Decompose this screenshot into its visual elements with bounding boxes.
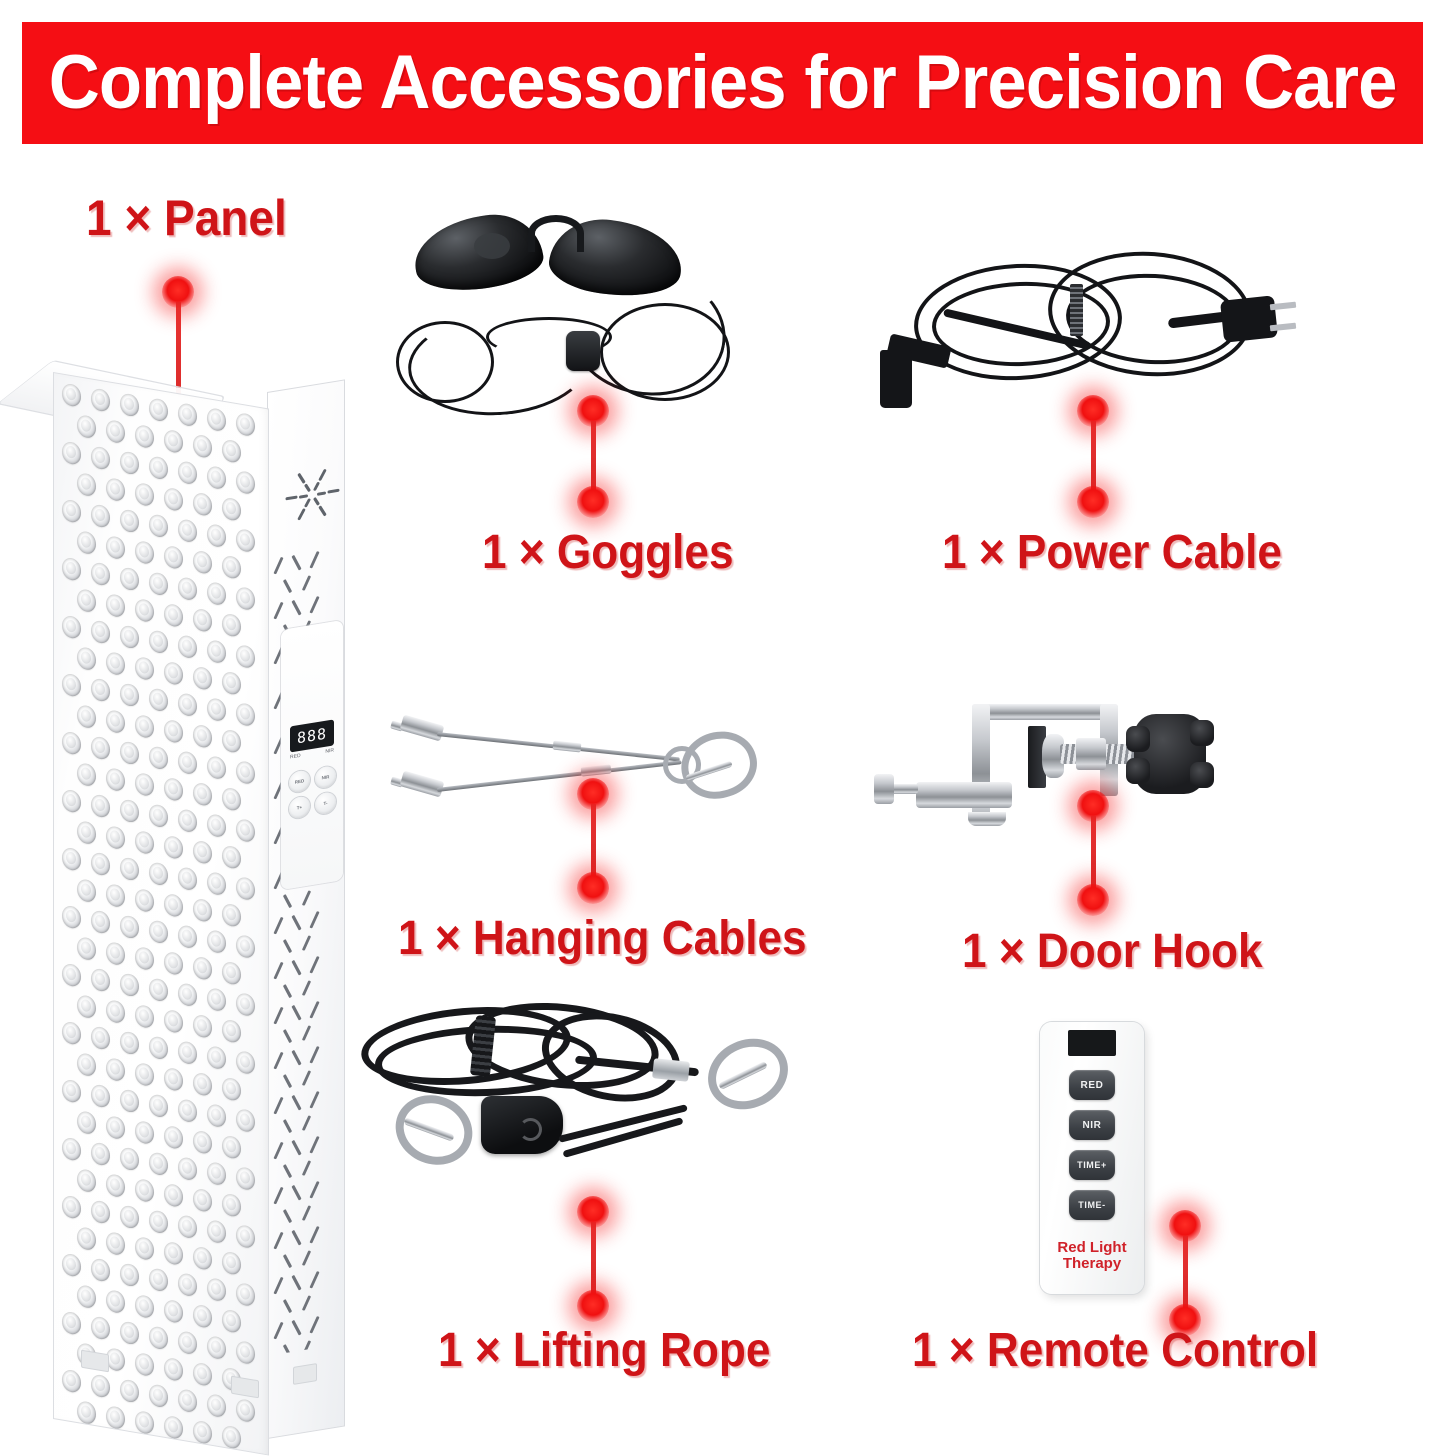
- led-diode: [106, 767, 125, 792]
- led-diode: [135, 1120, 154, 1145]
- led-diode: [149, 977, 168, 1002]
- led-diode: [164, 603, 183, 628]
- led-diode: [91, 1373, 110, 1398]
- fan-slot: [297, 472, 306, 483]
- item-label-door-hook: 1 × Door Hook: [962, 928, 1263, 976]
- item-label-panel: 1 × Panel: [86, 193, 287, 243]
- led-diode: [106, 709, 125, 734]
- led-diode: [236, 818, 255, 843]
- callout-marker-door-hook: [1063, 790, 1123, 920]
- led-diode: [91, 909, 110, 934]
- led-diode: [207, 871, 226, 896]
- led-diode: [77, 472, 96, 497]
- led-diode: [135, 540, 154, 565]
- led-diode: [236, 876, 255, 901]
- led-diode: [62, 1021, 81, 1046]
- led-diode: [62, 1079, 81, 1104]
- led-diode: [149, 1383, 168, 1408]
- remote-button-time-minus[interactable]: TIME-: [1069, 1190, 1115, 1220]
- led-diode: [135, 1062, 154, 1087]
- led-diode: [91, 1141, 110, 1166]
- led-diode: [149, 1035, 168, 1060]
- led-diode: [193, 782, 212, 807]
- led-diode: [91, 561, 110, 586]
- led-diode: [77, 414, 96, 439]
- nema-prong-top: [1270, 302, 1296, 311]
- remote-button-time-plus[interactable]: TIME+: [1069, 1150, 1115, 1180]
- fan-slot: [317, 491, 326, 495]
- led-diode: [149, 745, 168, 770]
- fan-slot: [327, 489, 339, 494]
- led-diode: [178, 1388, 197, 1413]
- led-diode: [207, 1393, 226, 1418]
- led-diode: [62, 383, 81, 408]
- led-diode: [193, 1420, 212, 1445]
- panel-foot-back: [293, 1363, 317, 1385]
- led-diode: [91, 1025, 110, 1050]
- panel-front-face: [53, 372, 269, 1456]
- led-diode: [207, 523, 226, 548]
- led-diode: [149, 571, 168, 596]
- led-diode: [149, 803, 168, 828]
- fan-slot: [318, 469, 327, 481]
- led-diode: [222, 1424, 241, 1449]
- led-diode: [62, 441, 81, 466]
- cable-tie: [1070, 284, 1083, 336]
- panel-button-nir[interactable]: NIR: [315, 765, 336, 789]
- led-diode: [77, 1110, 96, 1135]
- led-diode: [193, 724, 212, 749]
- led-diode: [164, 1125, 183, 1150]
- nema-plug-body: [1220, 295, 1278, 342]
- led-diode: [120, 624, 139, 649]
- led-diode: [222, 496, 241, 521]
- fan-grille-icon: [285, 456, 339, 535]
- fan-slot: [299, 494, 308, 498]
- led-diode: [207, 639, 226, 664]
- led-diode: [236, 1340, 255, 1365]
- led-diode: [178, 808, 197, 833]
- led-diode: [178, 924, 197, 949]
- led-diode: [222, 960, 241, 985]
- led-diode: [106, 1289, 125, 1314]
- led-diode: [106, 535, 125, 560]
- led-diode: [106, 825, 125, 850]
- remote-control-icon[interactable]: RED NIR TIME+ TIME- Red Light Therapy: [1040, 1022, 1144, 1294]
- led-diode: [77, 530, 96, 555]
- led-diode: [62, 731, 81, 756]
- panel-control-module[interactable]: 888 RED NIR RED NIR T+ T-: [281, 620, 343, 890]
- led-diode: [149, 513, 168, 538]
- led-diode: [91, 677, 110, 702]
- led-diode: [62, 1369, 81, 1394]
- led-diode: [207, 1103, 226, 1128]
- panel-button-time-minus[interactable]: T-: [315, 791, 336, 815]
- led-diode: [193, 1188, 212, 1213]
- led-diode: [77, 704, 96, 729]
- led-diode: [149, 629, 168, 654]
- led-diode: [62, 1137, 81, 1162]
- led-diode: [62, 1311, 81, 1336]
- remote-ir-window: [1068, 1030, 1116, 1056]
- led-diode: [193, 550, 212, 575]
- led-diode: [164, 545, 183, 570]
- led-diode: [106, 941, 125, 966]
- led-diode: [106, 883, 125, 908]
- led-diode: [193, 434, 212, 459]
- led-diode: [164, 835, 183, 860]
- led-diode: [120, 1262, 139, 1287]
- wire-ferrule-lower: [581, 764, 612, 776]
- led-diode: [164, 1067, 183, 1092]
- led-diode: [77, 646, 96, 671]
- marker-dot-bottom: [1077, 884, 1109, 916]
- clamp-bottom-lip: [968, 812, 1006, 826]
- led-diode: [106, 1405, 125, 1430]
- led-diode: [135, 1352, 154, 1377]
- led-diode: [207, 1219, 226, 1244]
- led-diode: [236, 1282, 255, 1307]
- led-diode: [120, 1030, 139, 1055]
- callout-marker-lifting-rope: [563, 1196, 623, 1326]
- led-diode: [120, 1320, 139, 1345]
- led-diode: [193, 1072, 212, 1097]
- led-diode: [164, 1415, 183, 1440]
- led-diode: [106, 999, 125, 1024]
- led-diode: [207, 581, 226, 606]
- led-diode: [77, 994, 96, 1019]
- remote-button-red-label: RED: [1081, 1080, 1104, 1091]
- callout-marker-power-cable: [1063, 395, 1123, 520]
- led-diode: [236, 992, 255, 1017]
- led-diode: [236, 528, 255, 553]
- led-diode: [178, 1272, 197, 1297]
- led-diode: [120, 508, 139, 533]
- led-diode: [120, 450, 139, 475]
- rope-ratchet-wheel: [519, 1118, 542, 1141]
- led-diode: [207, 755, 226, 780]
- led-diode: [193, 956, 212, 981]
- led-diode: [164, 1299, 183, 1324]
- led-diode: [164, 661, 183, 686]
- led-diode: [77, 820, 96, 845]
- led-diode: [91, 1257, 110, 1282]
- led-diode: [164, 1241, 183, 1266]
- remote-brand-line-2: Therapy: [1040, 1256, 1144, 1272]
- led-diode: [120, 914, 139, 939]
- led-diode: [178, 460, 197, 485]
- led-diode: [178, 1156, 197, 1181]
- led-diode: [164, 1009, 183, 1034]
- fan-slot: [285, 496, 297, 501]
- led-diode: [135, 772, 154, 797]
- led-diode: [178, 576, 197, 601]
- led-diode: [236, 644, 255, 669]
- led-diode: [222, 786, 241, 811]
- led-diode: [178, 866, 197, 891]
- panel-button-red-label: RED: [295, 778, 305, 785]
- goggles-strap-loop-left: [396, 321, 494, 403]
- remote-brand-line-1: Red Light: [1040, 1240, 1144, 1256]
- led-diode: [149, 455, 168, 480]
- header-banner: Complete Accessories for Precision Care: [22, 22, 1423, 144]
- led-diode: [222, 1308, 241, 1333]
- remote-button-time-plus-label: TIME+: [1077, 1160, 1107, 1170]
- led-diode: [91, 1315, 110, 1340]
- panel-button-time-plus-label: T+: [297, 805, 302, 811]
- led-diode: [193, 1246, 212, 1271]
- goggles-lens-left-highlight: [474, 233, 510, 259]
- led-diode: [106, 477, 125, 502]
- led-diode: [62, 499, 81, 524]
- led-diode: [207, 1335, 226, 1360]
- led-diode: [193, 840, 212, 865]
- remote-button-nir[interactable]: NIR: [1069, 1110, 1115, 1140]
- cable-stud-barrel-top: [400, 715, 445, 742]
- led-diode: [106, 593, 125, 618]
- panel-button-red[interactable]: RED: [289, 769, 310, 793]
- led-diode: [207, 1045, 226, 1070]
- led-diode: [149, 1325, 168, 1350]
- led-diode: [164, 719, 183, 744]
- fan-slot: [304, 498, 311, 508]
- led-diode: [222, 554, 241, 579]
- led-diode: [62, 557, 81, 582]
- led-diode: [91, 1199, 110, 1224]
- led-diode: [149, 861, 168, 886]
- marker-dot-bottom: [577, 872, 609, 904]
- panel-display-value: 888: [297, 725, 327, 748]
- led-diode: [193, 608, 212, 633]
- callout-marker-hanging-cables: [563, 778, 623, 908]
- led-diode: [236, 412, 255, 437]
- led-diode: [164, 1357, 183, 1382]
- led-diode: [222, 728, 241, 753]
- led-diode: [236, 1398, 255, 1423]
- led-diode: [178, 1214, 197, 1239]
- led-diode: [149, 1209, 168, 1234]
- led-diode: [193, 1130, 212, 1155]
- display-legend-nir: NIR: [325, 747, 334, 754]
- led-diode: [106, 1057, 125, 1082]
- led-diode: [222, 1192, 241, 1217]
- led-diode: [135, 888, 154, 913]
- clamp-knob-lobe-right-top: [1190, 720, 1214, 746]
- led-diode: [193, 898, 212, 923]
- fan-slot: [318, 505, 327, 516]
- item-label-remote-control: 1 × Remote Control: [912, 1327, 1318, 1375]
- led-diode: [91, 735, 110, 760]
- nema-prong-bottom: [1270, 323, 1296, 332]
- led-diode: [135, 830, 154, 855]
- fan-slot: [313, 497, 320, 506]
- item-label-power-cable: 1 × Power Cable: [942, 529, 1282, 577]
- led-diode: [77, 762, 96, 787]
- led-diode: [77, 936, 96, 961]
- led-diode: [164, 487, 183, 512]
- led-diode: [207, 987, 226, 1012]
- led-diode: [207, 697, 226, 722]
- led-diode: [193, 1304, 212, 1329]
- display-legend-red: RED: [290, 753, 301, 761]
- led-diode: [135, 946, 154, 971]
- led-diode: [207, 929, 226, 954]
- led-diode: [149, 919, 168, 944]
- led-diode: [120, 972, 139, 997]
- led-diode: [120, 1204, 139, 1229]
- led-diode: [178, 982, 197, 1007]
- led-diode: [77, 1226, 96, 1251]
- marker-dot-bottom: [577, 1290, 609, 1322]
- led-diode: [178, 750, 197, 775]
- led-diode: [91, 793, 110, 818]
- led-diode: [164, 777, 183, 802]
- panel-button-time-plus[interactable]: T+: [289, 795, 310, 819]
- fan-slot: [304, 483, 311, 492]
- led-diode: [77, 1168, 96, 1193]
- led-diode: [222, 612, 241, 637]
- clamp-knob-lobe-left-top: [1126, 726, 1150, 752]
- led-diode: [135, 1236, 154, 1261]
- remote-button-red[interactable]: RED: [1069, 1070, 1115, 1100]
- led-diode: [135, 1410, 154, 1435]
- led-diode: [135, 1178, 154, 1203]
- fan-slot: [313, 481, 320, 491]
- led-diode: [222, 1076, 241, 1101]
- led-diode: [120, 392, 139, 417]
- clamp-top-bar: [972, 704, 1118, 720]
- item-label-hanging-cables: 1 × Hanging Cables: [398, 915, 807, 963]
- led-array: [54, 373, 268, 1454]
- remote-button-time-minus-label: TIME-: [1078, 1200, 1106, 1210]
- rope-metal-sleeve: [652, 1058, 690, 1082]
- led-diode: [207, 465, 226, 490]
- lifting-rope-icon: [345, 1000, 805, 1210]
- fan-slot: [297, 508, 306, 520]
- led-diode: [91, 619, 110, 644]
- led-diode: [149, 397, 168, 422]
- clamp-screw-collar: [1076, 738, 1106, 770]
- panel-button-time-minus-label: T-: [324, 800, 328, 806]
- led-diode: [91, 1083, 110, 1108]
- led-diode: [77, 1052, 96, 1077]
- led-diode: [178, 692, 197, 717]
- led-diode: [164, 1183, 183, 1208]
- item-label-goggles: 1 × Goggles: [482, 529, 734, 577]
- led-diode: [236, 1224, 255, 1249]
- led-diode: [135, 424, 154, 449]
- led-diode: [62, 673, 81, 698]
- callout-marker-remote-control: [1155, 1210, 1215, 1340]
- led-diode: [135, 656, 154, 681]
- led-diode: [164, 429, 183, 454]
- led-panel-icon: 888 RED NIR RED NIR T+ T-: [35, 300, 380, 1440]
- door-hook-rod-cap: [874, 774, 894, 804]
- led-diode: [222, 1134, 241, 1159]
- led-diode: [120, 682, 139, 707]
- page-title: Complete Accessories for Precision Care: [49, 45, 1397, 121]
- led-diode: [135, 482, 154, 507]
- led-diode: [62, 1195, 81, 1220]
- led-diode: [106, 419, 125, 444]
- led-diode: [62, 789, 81, 814]
- led-diode: [91, 851, 110, 876]
- led-diode: [193, 1362, 212, 1387]
- led-diode: [149, 1151, 168, 1176]
- led-diode: [62, 1253, 81, 1278]
- led-diode: [149, 1267, 168, 1292]
- led-diode: [236, 470, 255, 495]
- led-diode: [164, 893, 183, 918]
- clamp-knob-lobe-left-bottom: [1126, 758, 1150, 784]
- led-diode: [193, 492, 212, 517]
- led-diode: [135, 714, 154, 739]
- led-diode: [236, 1166, 255, 1191]
- led-diode: [91, 445, 110, 470]
- led-diode: [178, 1040, 197, 1065]
- led-diode: [178, 402, 197, 427]
- led-diode: [149, 687, 168, 712]
- led-diode: [236, 1108, 255, 1133]
- wire-ferrule-upper: [553, 741, 582, 753]
- led-diode: [91, 503, 110, 528]
- marker-dot-bottom: [577, 486, 609, 518]
- led-diode: [77, 588, 96, 613]
- led-diode: [236, 702, 255, 727]
- led-diode: [135, 1294, 154, 1319]
- led-diode: [62, 847, 81, 872]
- led-diode: [207, 407, 226, 432]
- goggles-cord-lock: [566, 331, 600, 371]
- led-diode: [106, 651, 125, 676]
- led-diode: [120, 856, 139, 881]
- callout-marker-goggles: [563, 395, 623, 520]
- iec-connector-body: [880, 350, 912, 408]
- led-diode: [178, 634, 197, 659]
- led-diode: [236, 760, 255, 785]
- led-diode: [106, 1115, 125, 1140]
- led-diode: [91, 387, 110, 412]
- led-diode: [91, 967, 110, 992]
- led-diode: [207, 1277, 226, 1302]
- led-diode: [178, 1098, 197, 1123]
- led-diode: [164, 951, 183, 976]
- led-diode: [236, 586, 255, 611]
- led-diode: [222, 438, 241, 463]
- remote-button-nir-label: NIR: [1082, 1120, 1101, 1131]
- led-diode: [236, 934, 255, 959]
- led-diode: [222, 670, 241, 695]
- led-diode: [207, 1161, 226, 1186]
- led-diode: [120, 798, 139, 823]
- led-diode: [120, 566, 139, 591]
- led-diode: [149, 1093, 168, 1118]
- led-diode: [120, 1088, 139, 1113]
- led-diode: [222, 844, 241, 869]
- led-diode: [135, 598, 154, 623]
- led-diode: [135, 1004, 154, 1029]
- panel-button-pad: RED NIR T+ T-: [287, 765, 337, 773]
- led-diode: [207, 813, 226, 838]
- panel-button-nir-label: NIR: [322, 774, 330, 780]
- led-diode: [120, 740, 139, 765]
- led-diode: [222, 902, 241, 927]
- goggles-icon: [400, 195, 780, 425]
- led-diode: [77, 1400, 96, 1425]
- clamp-knob-lobe-right-bottom: [1190, 762, 1214, 788]
- marker-dot-bottom: [1077, 486, 1109, 518]
- led-diode: [236, 1050, 255, 1075]
